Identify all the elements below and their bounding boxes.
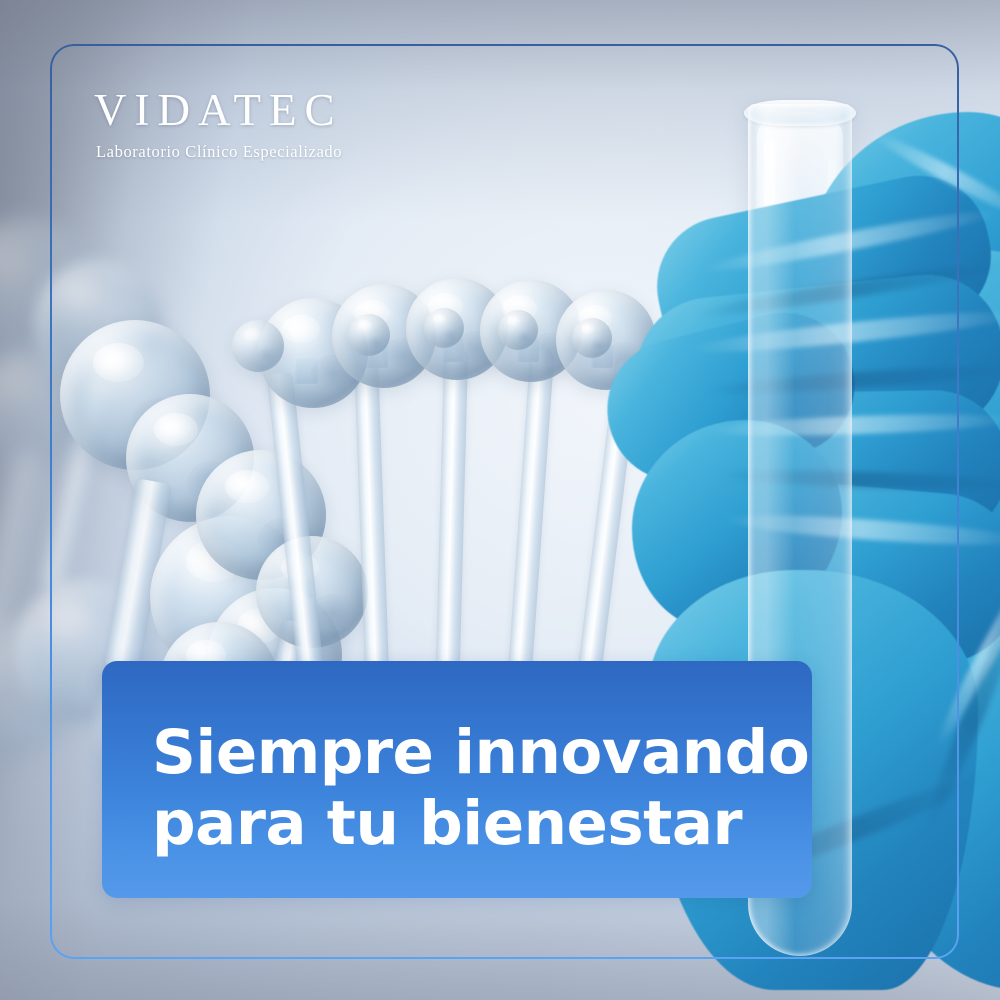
brand-logo: VIDATEC Laboratorio Clínico Especializad… — [94, 88, 342, 162]
headline-banner: Siempre innovando para tu bienestar — [102, 661, 812, 898]
brand-name: VIDATEC — [94, 88, 342, 133]
poster-canvas: VIDATEC Laboratorio Clínico Especializad… — [0, 0, 1000, 1000]
headline-text: Siempre innovando para tu bienestar — [152, 717, 809, 860]
brand-tagline: Laboratorio Clínico Especializado — [96, 142, 342, 162]
